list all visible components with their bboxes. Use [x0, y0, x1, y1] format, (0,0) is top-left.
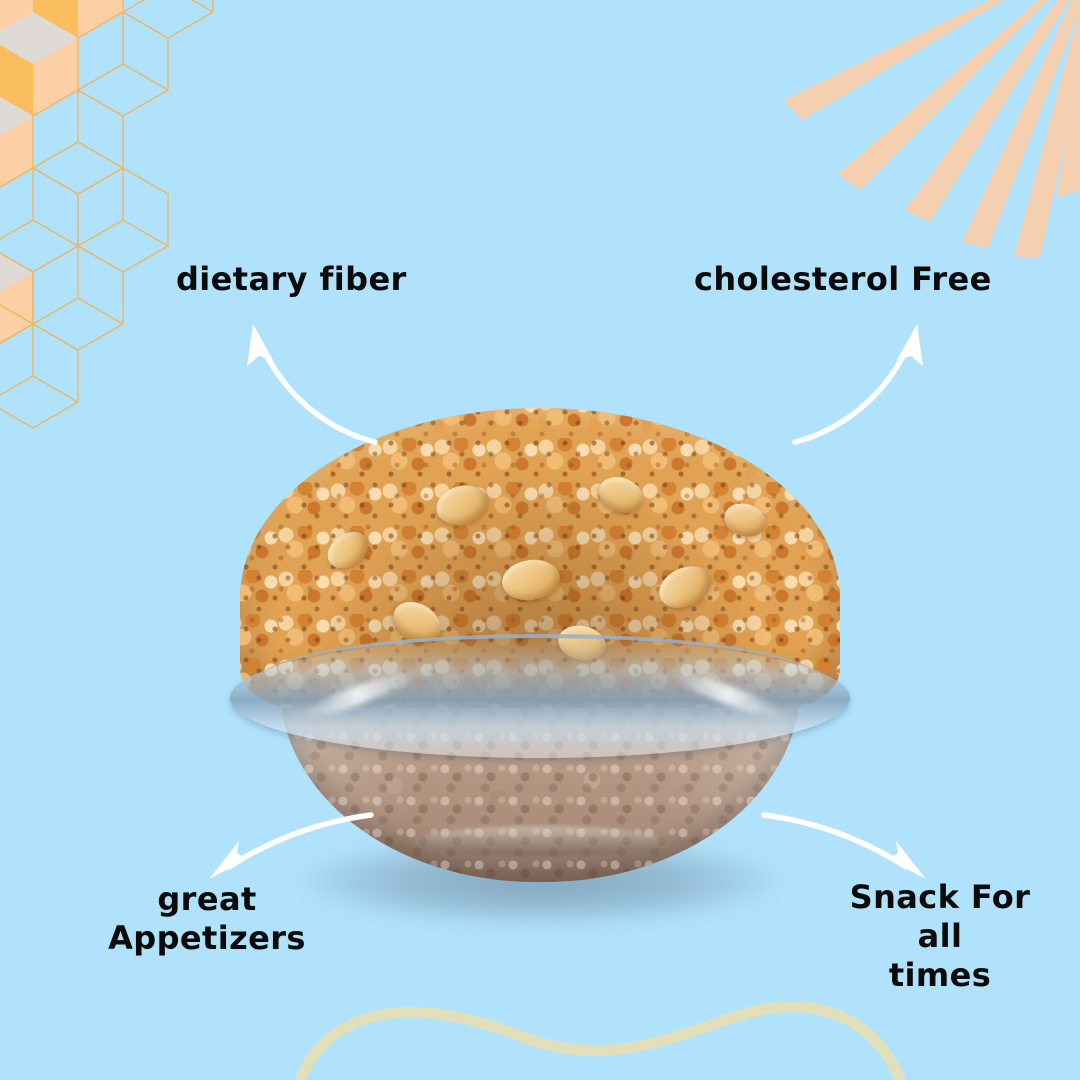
snack-bowl — [220, 386, 860, 906]
callout-great-appetizers: great Appetizers — [92, 880, 322, 958]
snack-mix-heap — [240, 408, 840, 708]
peanut-piece — [432, 480, 492, 531]
peanut-piece — [652, 558, 717, 616]
peanut-piece — [555, 621, 609, 664]
bowl-base-rim — [415, 826, 665, 856]
peanut-piece — [321, 524, 375, 575]
peanut-piece — [720, 498, 770, 541]
callout-dietary-fiber: dietary fiber — [176, 260, 407, 299]
peanut-piece — [593, 471, 648, 520]
sunburst-rays-icon — [740, 0, 1080, 270]
isometric-cube-pattern-icon — [0, 0, 420, 430]
callout-cholesterol-free: cholesterol Free — [694, 260, 992, 299]
callout-snack-for-all-times: Snack For all times — [830, 878, 1050, 995]
peanut-piece — [386, 594, 447, 650]
promo-poster: dietary fiber cholesterol Free great App… — [0, 0, 1080, 1080]
peanut-piece — [499, 556, 562, 604]
